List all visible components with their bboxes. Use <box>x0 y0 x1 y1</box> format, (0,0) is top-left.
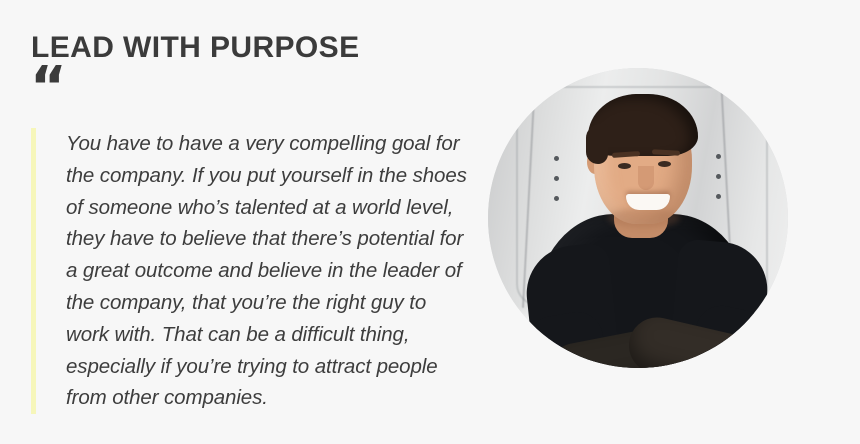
figure-eye-left <box>618 163 631 169</box>
portrait-figure <box>488 68 788 368</box>
quote-card: LEAD WITH PURPOSE “ You have to have a v… <box>0 0 860 444</box>
figure-chin-shadow <box>608 208 680 228</box>
figure-smile <box>626 194 670 210</box>
quote-mark-icon: “ <box>30 60 67 116</box>
portrait-column: Elon Musk CEO of SpaceX and Tesla Motors <box>470 0 860 444</box>
figure-nose <box>638 166 654 190</box>
quote-text: You have to have a very compelling goal … <box>36 128 471 414</box>
quote-block: You have to have a very compelling goal … <box>31 128 471 414</box>
quote-column: LEAD WITH PURPOSE “ You have to have a v… <box>0 0 490 444</box>
figure-hair-side <box>586 124 608 164</box>
page-title: LEAD WITH PURPOSE <box>31 31 359 65</box>
figure-eye-right <box>658 161 671 167</box>
avatar <box>488 68 788 368</box>
